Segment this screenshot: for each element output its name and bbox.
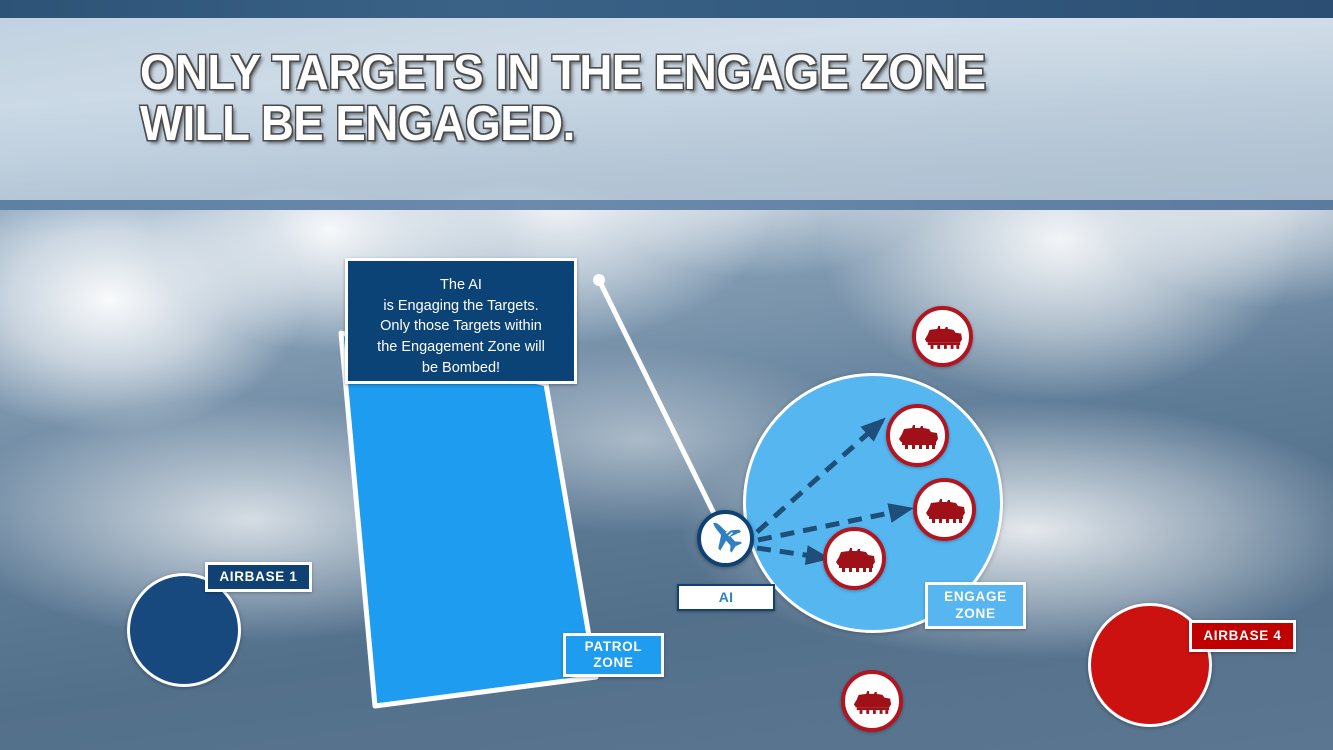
engagement-arrow-3-top bbox=[757, 548, 826, 558]
armored-vehicle-icon bbox=[896, 423, 940, 449]
armored-vehicle-icon bbox=[923, 497, 967, 523]
target-marker-out-of-zone-1[interactable] bbox=[912, 306, 973, 367]
target-marker-in-zone-3[interactable] bbox=[823, 527, 886, 590]
engage-zone-label[interactable]: ENGAGE ZONE bbox=[925, 582, 1026, 629]
armored-vehicle-icon bbox=[922, 324, 964, 349]
target-marker-out-of-zone-2[interactable] bbox=[841, 670, 903, 732]
airbase-1-label[interactable]: AIRBASE 1 bbox=[205, 562, 312, 592]
engagement-arrow-1-top bbox=[757, 421, 882, 532]
airbase-4-label[interactable]: AIRBASE 4 bbox=[1189, 620, 1296, 652]
ai-callout-box: The AI is Engaging the Targets. Only tho… bbox=[345, 258, 577, 384]
target-marker-in-zone-2[interactable] bbox=[913, 478, 976, 541]
armored-vehicle-icon bbox=[833, 546, 877, 572]
armored-vehicle-icon bbox=[851, 689, 893, 714]
target-marker-in-zone-1[interactable] bbox=[886, 404, 949, 467]
ai-jet-marker[interactable] bbox=[697, 510, 754, 567]
ai-label[interactable]: AI bbox=[677, 584, 775, 611]
fighter-jet-icon bbox=[706, 516, 746, 561]
slide-canvas: ONLY TARGETS IN THE ENGAGE ZONE WILL BE … bbox=[0, 0, 1333, 750]
patrol-zone-label[interactable]: PATROL ZONE bbox=[563, 633, 664, 677]
